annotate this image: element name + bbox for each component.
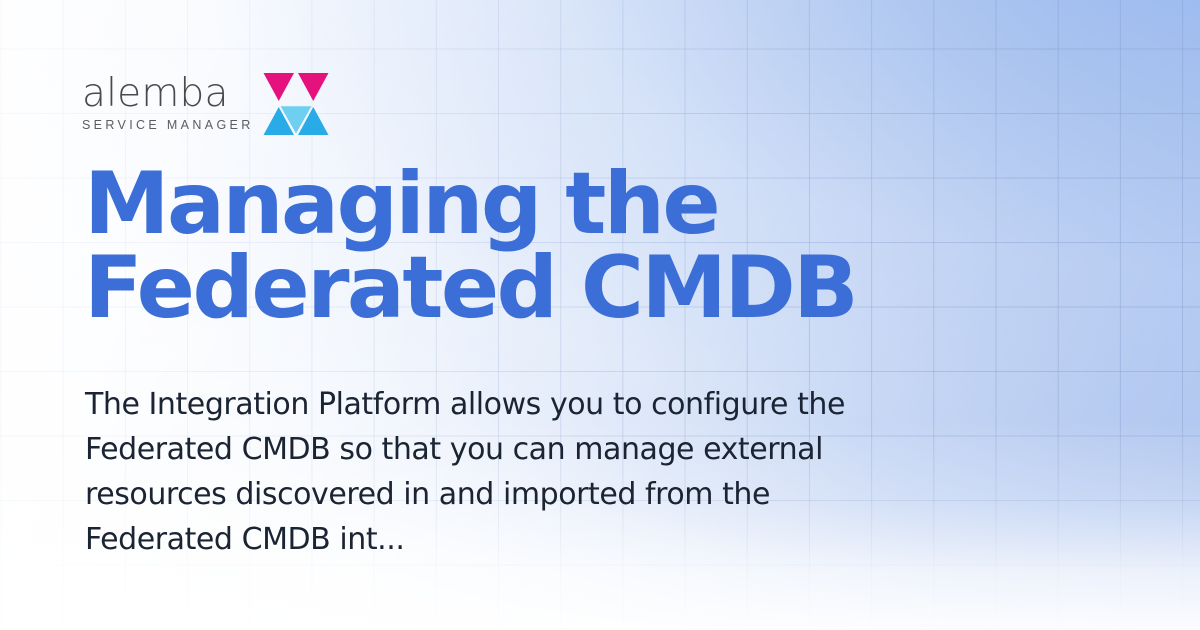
page-summary: The Integration Platform allows you to c… [85,382,875,562]
logo-text-block: alemba SERVICE MANAGER [82,72,254,132]
share-card-banner: alemba SERVICE MANAGER Managing the Fede… [0,0,1200,630]
alemba-x-logo-icon [262,71,330,139]
brand-wordmark: alemba [82,74,254,114]
banner-content: alemba SERVICE MANAGER Managing the Fede… [82,0,1092,630]
brand-tagline: SERVICE MANAGER [82,118,254,132]
alemba-service-manager-logo: alemba SERVICE MANAGER [82,72,330,139]
page-title: Managing the Federated CMDB [84,162,1084,331]
